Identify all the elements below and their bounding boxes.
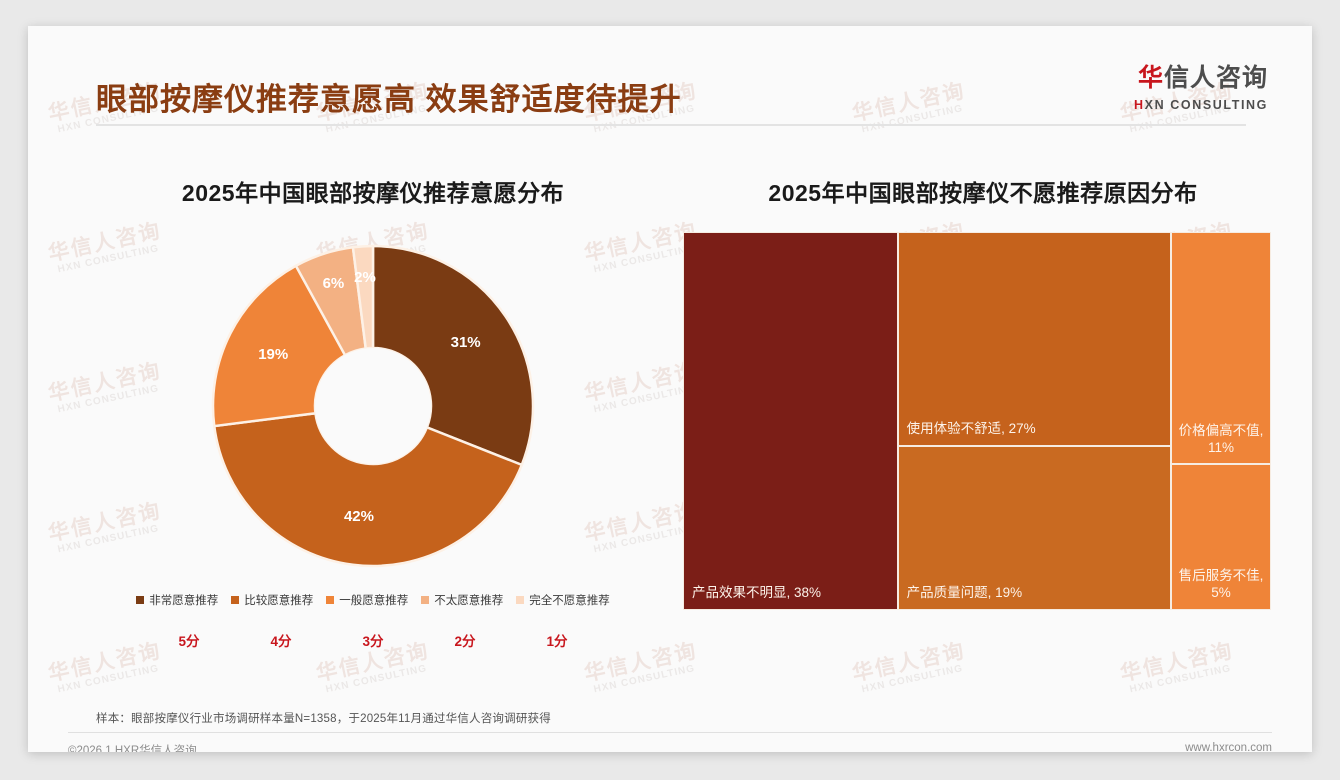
slide-canvas: 华信人咨询HXN CONSULTING华信人咨询HXN CONSULTING华信… (28, 26, 1312, 752)
sample-footnote: 样本：眼部按摩仪行业市场调研样本量N=1358，于2025年11月通过华信人咨询… (96, 710, 551, 726)
donut-svg: 31%42%19%6%2% (193, 226, 553, 586)
treemap-chart-title: 2025年中国眼部按摩仪不愿推荐原因分布 (683, 174, 1283, 208)
donut-slice-label: 31% (451, 334, 481, 351)
treemap-cell-label: 产品效果不明显, 38% (692, 585, 889, 602)
score-label: 3分 (327, 630, 419, 650)
logo-english: HXN CONSULTING (1134, 98, 1268, 112)
treemap-cell[interactable]: 价格偏高不值, 11% (1171, 232, 1271, 464)
website-link[interactable]: www.hxrcon.com (1185, 742, 1272, 752)
treemap-cell[interactable]: 产品效果不明显, 38% (683, 232, 898, 610)
treemap-chart: 产品效果不明显, 38%使用体验不舒适, 27%产品质量问题, 19%价格偏高不… (683, 232, 1271, 610)
donut-slice-label: 6% (323, 275, 345, 292)
score-label: 1分 (511, 630, 603, 650)
logo-chinese: 华信人咨询 (1134, 66, 1268, 91)
donut-slice-label: 19% (258, 346, 288, 363)
donut-chart-title: 2025年中国眼部按摩仪推荐意愿分布 (68, 174, 678, 208)
right-chart-panel: 2025年中国眼部按摩仪不愿推荐原因分布 产品效果不明显, 38%使用体验不舒适… (683, 174, 1283, 694)
score-row: 5分4分3分2分1分 (68, 630, 678, 650)
treemap-cell[interactable]: 售后服务不佳, 5% (1171, 464, 1271, 610)
legend-swatch-icon (326, 596, 334, 604)
footer-divider (68, 732, 1272, 733)
legend-swatch-icon (516, 596, 524, 604)
donut-slice-label: 2% (354, 269, 376, 286)
logo-en-gray: XN CONSULTING (1145, 98, 1268, 112)
left-chart-panel: 2025年中国眼部按摩仪推荐意愿分布 31%42%19%6%2% 非常愿意推荐比… (68, 174, 678, 694)
brand-logo: 华信人咨询 HXN CONSULTING (1134, 66, 1268, 112)
title-divider (96, 124, 1246, 126)
slide-header: 眼部按摩仪推荐意愿高 效果舒适度待提升 华信人咨询 HXN CONSULTING (28, 26, 1312, 136)
donut-hole (315, 348, 431, 464)
score-label: 4分 (235, 630, 327, 650)
legend-swatch-icon (136, 596, 144, 604)
treemap-cell[interactable]: 产品质量问题, 19% (898, 446, 1171, 610)
copyright-text: ©2026.1 HXR华信人咨询 (68, 742, 197, 752)
score-label: 5分 (143, 630, 235, 650)
treemap-cell-label: 使用体验不舒适, 27% (907, 421, 1162, 438)
donut-chart: 31%42%19%6%2% (68, 226, 678, 596)
treemap-cell-label: 售后服务不佳, 5% (1176, 568, 1266, 602)
logo-cn-red: 华 (1138, 64, 1164, 92)
donut-slice-label: 42% (344, 508, 374, 525)
treemap-cell[interactable]: 使用体验不舒适, 27% (898, 232, 1171, 446)
legend-swatch-icon (421, 596, 429, 604)
treemap-cell-label: 价格偏高不值, 11% (1176, 423, 1266, 457)
legend-swatch-icon (231, 596, 239, 604)
score-label: 2分 (419, 630, 511, 650)
page-title: 眼部按摩仪推荐意愿高 效果舒适度待提升 (96, 74, 682, 119)
logo-cn-gray: 信人咨询 (1164, 64, 1268, 92)
treemap-cell-label: 产品质量问题, 19% (907, 585, 1162, 602)
logo-en-red: H (1134, 98, 1145, 112)
